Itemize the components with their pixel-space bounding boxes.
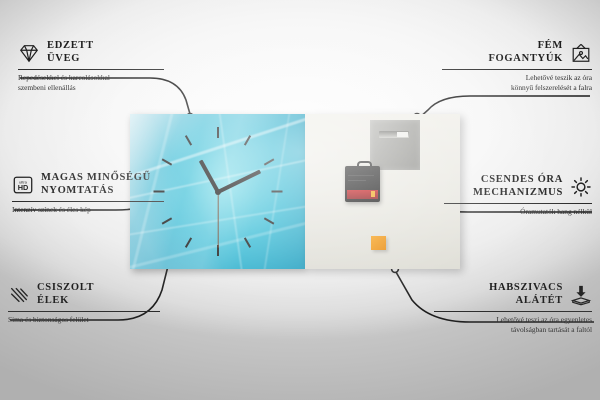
- gear-icon: [570, 176, 592, 198]
- callout-foam-pad: HABSZIVACS ALÁTÉT Lehetővé teszi az óra …: [434, 282, 592, 334]
- mechanism-loop: [357, 161, 372, 170]
- metal-hanger: [370, 120, 420, 170]
- callout-silent-mechanism: CSENDES ÓRA MECHANIZMUS Óramutatók hang …: [444, 174, 592, 217]
- callout-divider: [12, 201, 164, 202]
- callout-subtitle: Intenzív színek és éles kép: [12, 205, 164, 215]
- clock-back-panel: [305, 114, 460, 269]
- callout-title: MAGAS MINŐSÉGŰ NYOMTATÁS: [41, 172, 151, 197]
- callout-divider: [444, 203, 592, 204]
- callout-title: HABSZIVACS ALÁTÉT: [489, 282, 563, 307]
- picture-frame-hanger-icon: [570, 42, 592, 64]
- callout-title: EDZETT ÜVEG: [47, 40, 94, 65]
- callout-polished-edges: CSISZOLT ÉLEK Sima és biztonságos felüle…: [8, 282, 160, 325]
- callout-subtitle: Lehetővé teszik az óra könnyű felszerelé…: [442, 73, 592, 92]
- callout-tempered-glass: EDZETT ÜVEG Repedésekkel és karcolásokka…: [18, 40, 164, 92]
- callout-subtitle: Sima és biztonságos felület: [8, 315, 160, 325]
- second-hand: [217, 192, 218, 248]
- battery-compartment: [347, 190, 378, 199]
- callout-subtitle: Repedésekkel és karcolásokkal szembeni e…: [18, 73, 164, 92]
- callout-divider: [18, 69, 164, 70]
- diamond-icon: [18, 42, 40, 64]
- clock-center-pivot: [215, 189, 221, 195]
- callout-subtitle: Lehetővé teszi az óra egyenletes távolsá…: [434, 315, 592, 334]
- infographic-stage: EDZETT ÜVEG Repedésekkel és karcolásokka…: [0, 0, 600, 400]
- foam-layer-arrow-icon: [570, 284, 592, 306]
- clock-tick: [217, 127, 219, 138]
- polished-edge-icon: [8, 284, 30, 306]
- callout-divider: [434, 311, 592, 312]
- clock-tick: [271, 191, 282, 193]
- clock-mechanism: [345, 166, 380, 202]
- product-image: [130, 114, 460, 269]
- foam-pad: [371, 236, 386, 250]
- callout-high-quality-print: ultra HD MAGAS MINŐSÉGŰ NYOMTATÁS Intenz…: [12, 172, 164, 215]
- callout-title: CSENDES ÓRA MECHANIZMUS: [473, 174, 563, 199]
- hanger-slot: [379, 131, 409, 138]
- callout-divider: [442, 69, 592, 70]
- ultra-hd-icon: ultra HD: [12, 174, 34, 196]
- callout-metal-handles: FÉM FOGANTYÚK Lehetővé teszik az óra kön…: [442, 40, 592, 92]
- callout-title: CSISZOLT ÉLEK: [37, 282, 94, 307]
- callout-title: FÉM FOGANTYÚK: [488, 40, 563, 65]
- callout-divider: [8, 311, 160, 312]
- callout-subtitle: Óramutatók hang nélkül: [444, 207, 592, 217]
- svg-text:HD: HD: [18, 183, 29, 192]
